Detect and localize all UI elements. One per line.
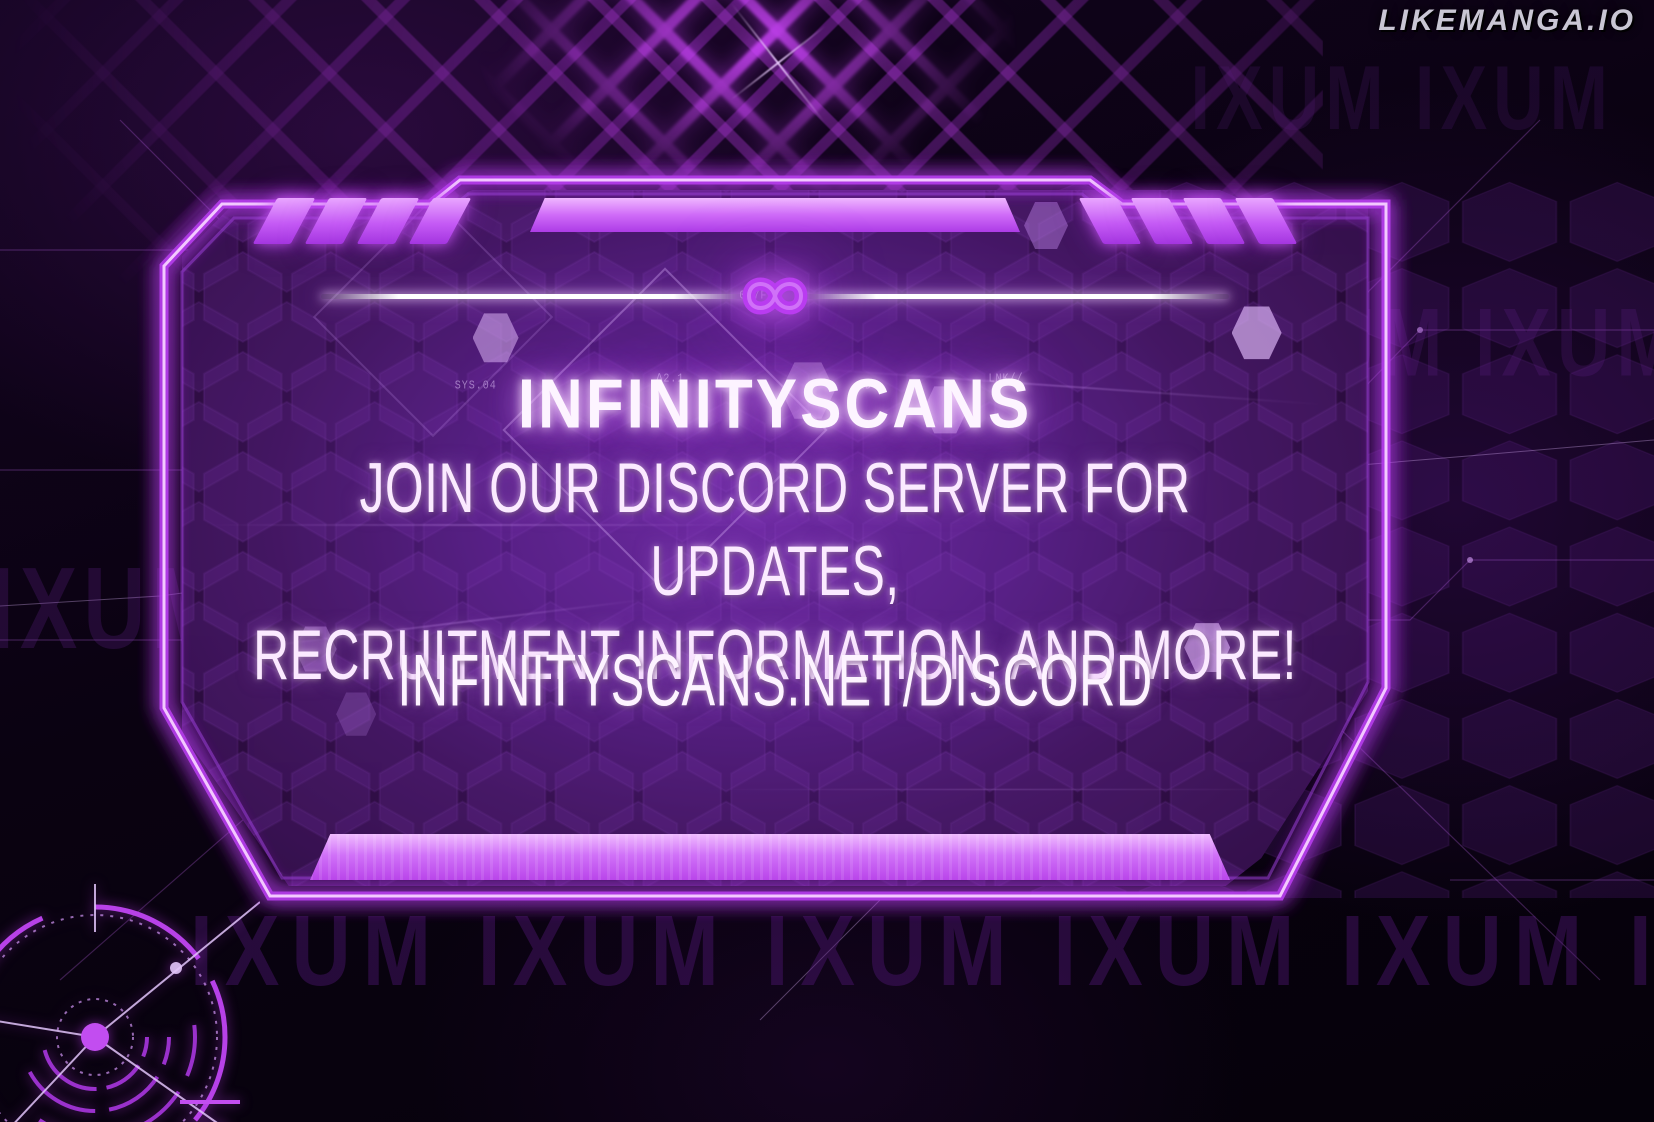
logo-row [160, 254, 1390, 338]
discord-url[interactable]: INFINITYSCANS.NET/DISCORD [258, 638, 1291, 722]
site-watermark: LIKEMANGA.IO [1378, 4, 1636, 38]
hud-reticle-icon [0, 872, 260, 1122]
infinity-icon [715, 254, 835, 338]
logo-divider-left [321, 294, 751, 299]
banner-canvas: IXUM IXUM IXUM IXUM IXUM IXUM IXUM IXUM … [0, 0, 1654, 1122]
banner-content: INFINITYSCANS JOIN OUR DISCORD SERVER FO… [160, 168, 1390, 908]
logo-divider-right [799, 294, 1229, 299]
page-title: INFINITYSCANS [160, 370, 1390, 439]
subtitle-line-1: JOIN OUR DISCORD SERVER FOR UPDATES, [246, 447, 1304, 614]
neon-frame: 0X7F SYS.04 ∆2.1 RDY LNK// [160, 168, 1390, 908]
